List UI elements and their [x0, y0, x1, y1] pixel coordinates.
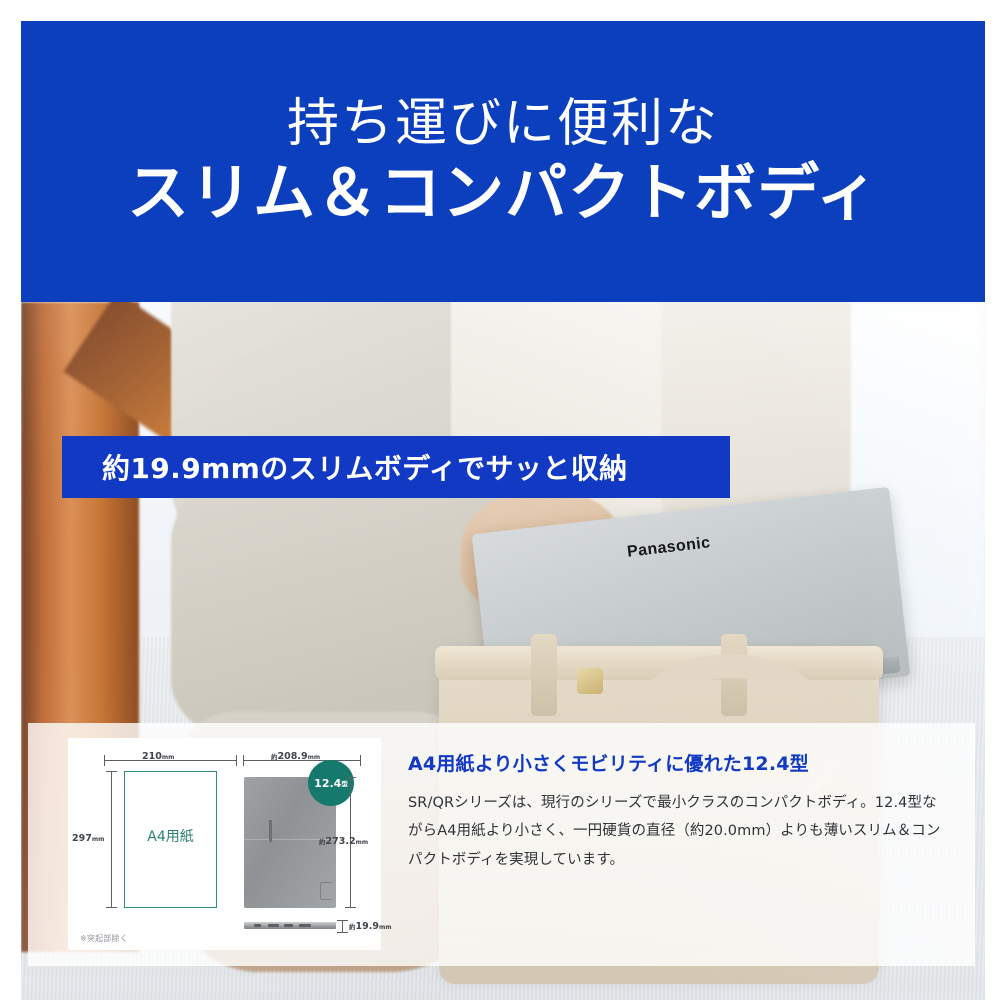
hero-banner: 持ち運びに便利な スリム＆コンパクトボディ — [21, 21, 985, 302]
device-thickness-tick-top — [337, 920, 348, 921]
device-width-tick-right — [360, 755, 361, 766]
ribbon-label: 約19.9mmのスリムボディでサッと収納 — [102, 447, 627, 487]
device-side-port-3 — [284, 924, 293, 927]
device-width-label: 約208.9mm — [271, 751, 320, 762]
hero-subtitle: 持ち運びに便利な — [287, 96, 719, 153]
device-side-port-1 — [254, 924, 261, 927]
a4-height-dimension-line — [111, 771, 112, 908]
device-height-tick-top — [345, 777, 356, 778]
info-card: 210mm 約208.9mm 297mm A4用紙 — [28, 723, 975, 966]
device-height-label: 約273.2mm — [319, 836, 368, 847]
device-side-port-4 — [299, 924, 311, 927]
a4-width-tick-left — [104, 755, 105, 766]
a4-width-label: 210mm — [142, 751, 174, 762]
device-height-tick-bottom — [345, 907, 356, 908]
info-heading: A4用紙より小さくモビリティに優れた12.4型 — [408, 749, 948, 776]
device-thickness-label: 約19.9mm — [349, 921, 391, 932]
a4-paper-label: A4用紙 — [124, 826, 217, 846]
device-thickness-tick-bottom — [337, 932, 348, 933]
a4-width-tick-right — [236, 755, 237, 766]
device-port-notch — [320, 882, 332, 900]
slim-body-ribbon: 約19.9mmのスリムボディでサッと収納 — [62, 436, 730, 498]
photo-tote-bag-buckle — [577, 668, 603, 694]
device-side-port-2 — [268, 924, 279, 927]
device-width-tick-left — [243, 755, 244, 766]
size-comparison-figure: 210mm 約208.9mm 297mm A4用紙 — [68, 738, 381, 950]
device-brand-mark — [269, 820, 272, 842]
info-text-block: A4用紙より小さくモビリティに優れた12.4型 SR/QRシリーズは、現行のシリ… — [408, 749, 948, 874]
figure-footnote: ※突起部除く — [80, 933, 128, 944]
a4-height-tick-top — [106, 771, 117, 772]
screen-size-badge: 12.4型 — [308, 760, 354, 806]
a4-height-tick-bottom — [106, 907, 117, 908]
hero-title: スリム＆コンパクトボディ — [127, 159, 879, 227]
a4-height-label: 297mm — [72, 833, 104, 844]
info-body: SR/QRシリーズは、現行のシリーズで最小クラスのコンパクトボディ。12.4型な… — [408, 789, 948, 874]
product-feature-page: 持ち運びに便利な スリム＆コンパクトボディ Panasonic — [0, 0, 1000, 1000]
photo-tote-bag-strap-left — [531, 634, 557, 716]
